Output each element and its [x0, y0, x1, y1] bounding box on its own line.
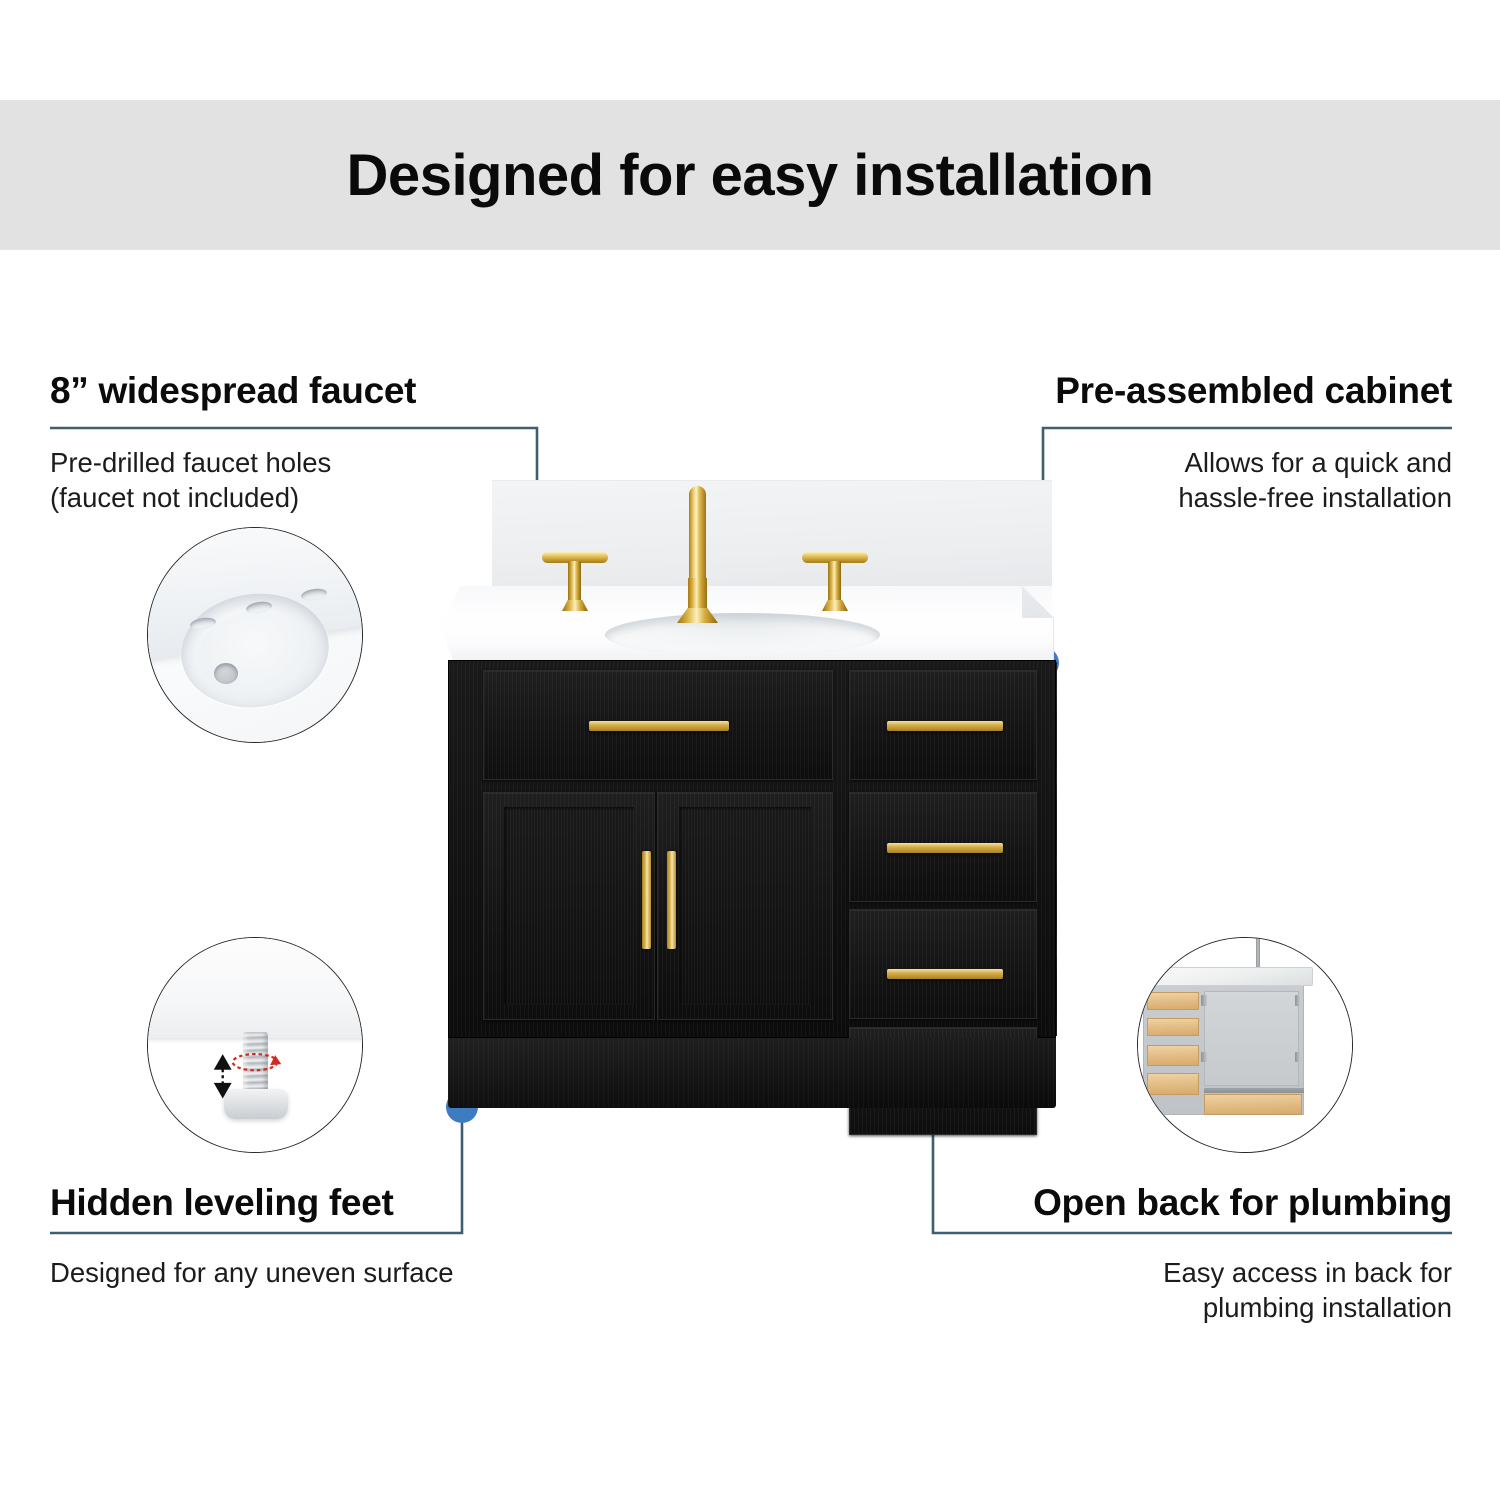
cabinet-door-left[interactable] [483, 792, 655, 1020]
drawer-box-2 [1147, 1018, 1199, 1037]
sink-drain-icon [214, 663, 238, 684]
product-image-vanity [430, 470, 1070, 1115]
drawer-top-right[interactable] [849, 670, 1037, 780]
sink-art [147, 527, 363, 743]
door-pull-left[interactable] [642, 851, 651, 949]
inset-sink-faucet-holes [147, 527, 363, 743]
cabinet-front [448, 660, 1056, 1038]
inset-cabinet-back-view [1137, 937, 1353, 1153]
rotation-arc-icon [233, 1054, 277, 1070]
hinge-top-right-icon [1295, 995, 1300, 1006]
faucet-handle-left-stem [568, 561, 581, 603]
door-pull-right[interactable] [667, 851, 676, 949]
cabinet-toe-kick [448, 1038, 1056, 1108]
rotation-arrowhead-icon [270, 1055, 281, 1065]
arrow-down-icon [215, 1083, 231, 1097]
drawer-pull-top-right[interactable] [887, 721, 1003, 731]
drawer-box-1 [1147, 992, 1199, 1011]
leveling-annotation-arrows [147, 937, 363, 1153]
hinge-bottom-right-icon [1295, 1052, 1300, 1063]
callout-heading-open-back-plumbing: Open back for plumbing [1033, 1182, 1452, 1224]
arrow-up-icon [215, 1055, 231, 1069]
inset-leveling-foot [147, 937, 363, 1153]
faucet-handle-right-stem [828, 561, 841, 603]
callout-subtext-open-back-plumbing: Easy access in back for plumbing install… [982, 1255, 1452, 1325]
cabinet-door-right[interactable] [657, 792, 833, 1020]
drawer-right-middle[interactable] [849, 909, 1037, 1019]
faucet-handle-left [542, 552, 608, 566]
hinge-bottom-left-icon [1201, 1052, 1206, 1063]
callout-heading-pre-assembled-cabinet: Pre-assembled cabinet [1055, 370, 1452, 412]
drawer-box-3 [1147, 1045, 1199, 1066]
faucet-spout [689, 486, 706, 586]
drawer-pull-right-upper[interactable] [887, 843, 1003, 853]
callout-heading-hidden-leveling-feet: Hidden leveling feet [50, 1182, 394, 1224]
drawer-box-4 [1147, 1073, 1199, 1095]
callout-heading-widespread-faucet: 8” widespread faucet [50, 370, 416, 412]
undermount-sink [605, 613, 880, 657]
drawer-pull-top-left[interactable] [589, 721, 729, 731]
cabinet-countertop-edge [1143, 967, 1313, 987]
callout-subtext-hidden-leveling-feet: Designed for any uneven surface [50, 1255, 530, 1290]
leveling-foot-art [147, 937, 363, 1153]
hinge-top-left-icon [1201, 995, 1206, 1006]
drawer-right-upper[interactable] [849, 792, 1037, 902]
cabinet-back-art [1137, 937, 1353, 1153]
drawer-box-wide [1204, 1094, 1302, 1115]
cabinet-back-panel [1204, 991, 1300, 1087]
drawer-pull-right-middle[interactable] [887, 969, 1003, 979]
cabinet-shelf [1204, 1088, 1304, 1094]
drawer-top-left[interactable] [483, 670, 833, 780]
callout-subtext-pre-assembled-cabinet: Allows for a quick and hassle-free insta… [1012, 445, 1452, 515]
faucet-handle-right [802, 552, 868, 566]
